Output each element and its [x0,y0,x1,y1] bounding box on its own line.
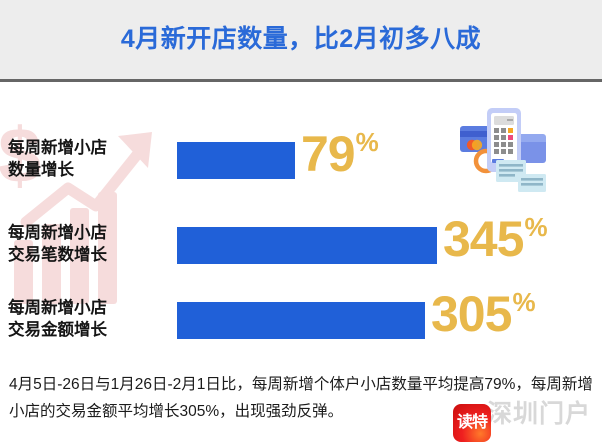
bar-value [177,302,425,339]
percent-sign: % [356,129,379,155]
percent-sign: % [524,214,547,240]
chart-area: $ [0,82,602,364]
bar-label: 每周新增小店 数量增长 [0,137,166,181]
chart-row: 每周新增小店 数量增长 79 % [0,137,602,199]
growth-watermark-icon: $ [0,102,196,322]
footer-area: 4月5日-26日与1月26日-2月1日比，每周新增个体户小店数量平均提高79%，… [0,366,602,445]
bar-value-number: 345 [443,214,523,264]
percent-sign: % [512,289,535,315]
bar-value [177,142,295,179]
bar-label: 每周新增小店 交易笔数增长 [0,222,166,266]
page-title: 4月新开店数量，比2月初多八成 [121,27,481,52]
bar-value-number: 79 [301,129,355,179]
infographic-page: 4月新开店数量，比2月初多八成 $ [0,0,602,445]
bar-label: 每周新增小店 交易金额增长 [0,297,166,341]
bar-value-label: 79 % [301,129,379,179]
bar-value-number: 305 [431,289,511,339]
chart-row: 每周新增小店 交易笔数增长 345 % [0,222,602,284]
header-band: 4月新开店数量，比2月初多八成 [0,0,602,82]
bar-value-label: 345 % [443,214,548,264]
bar-value [177,227,437,264]
footer-caption: 4月5日-26日与1月26日-2月1日比，每周新增个体户小店数量平均提高79%，… [9,371,597,425]
bar-value-label: 305 % [431,289,536,339]
chart-row: 每周新增小店 交易金额增长 305 % [0,297,602,359]
